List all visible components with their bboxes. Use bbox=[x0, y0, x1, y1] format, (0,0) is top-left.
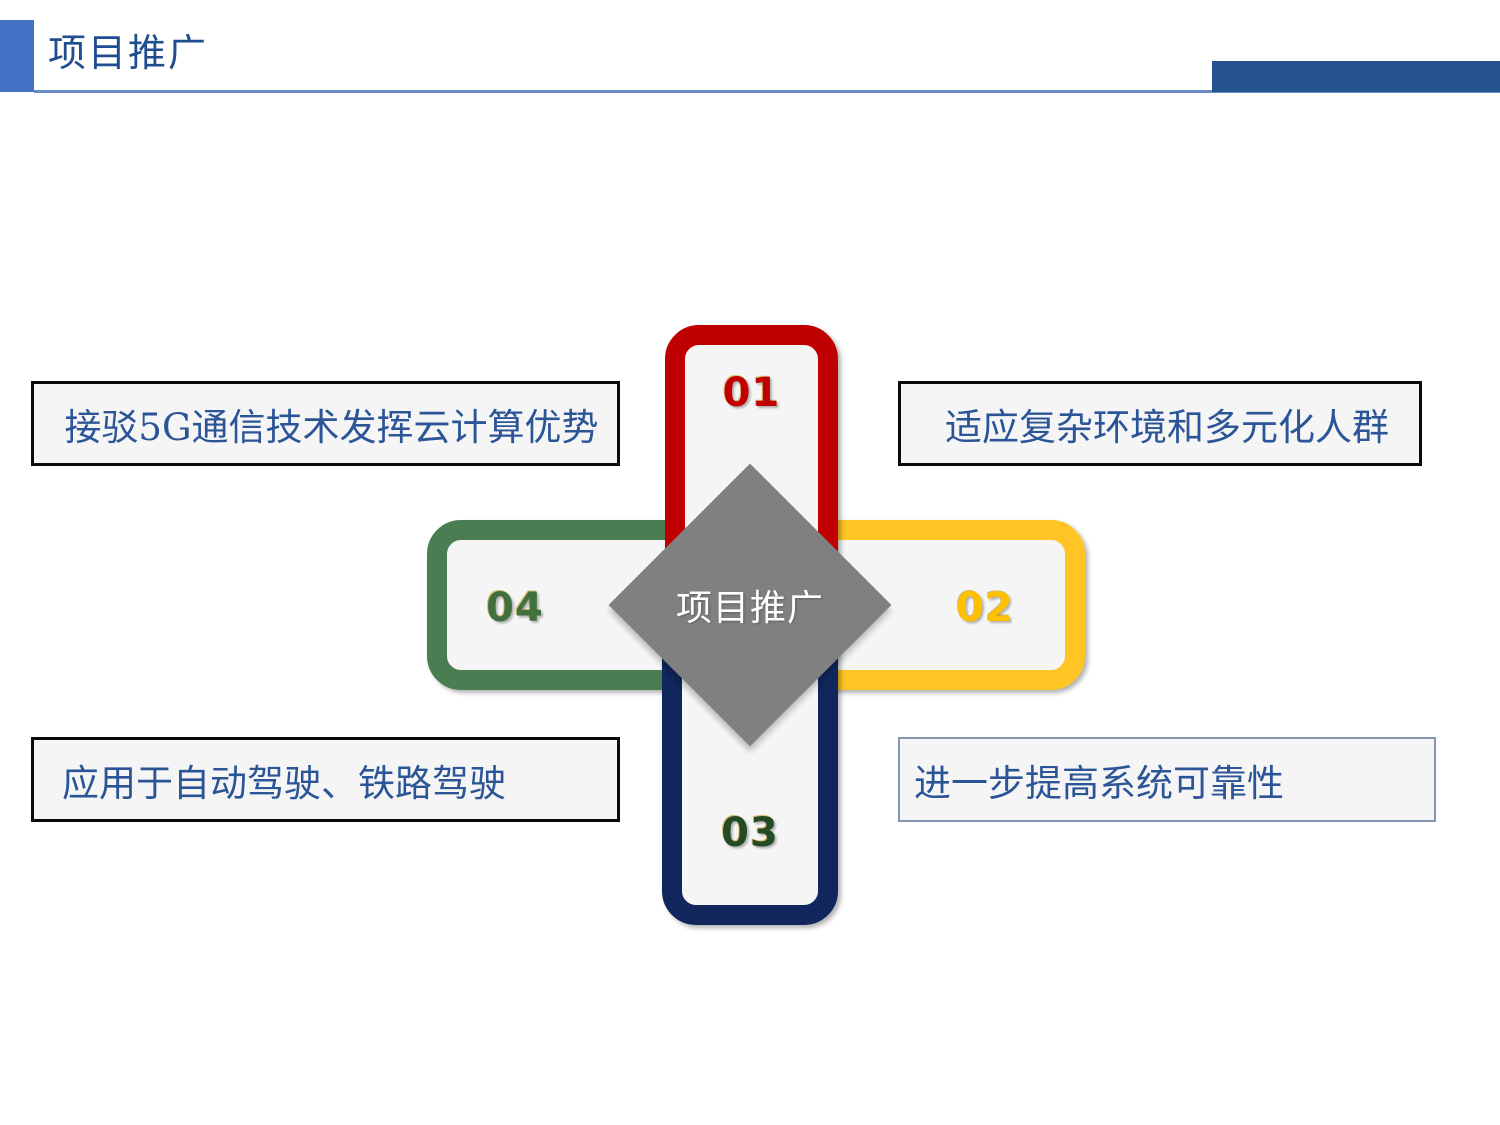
slide-canvas: 项目推广 01 02 03 04 项目推广 接驳5G通信技术发挥云计算优势 适应… bbox=[0, 0, 1500, 1125]
diamond-label: 项目推广 bbox=[612, 467, 888, 743]
node-number-01: 01 bbox=[665, 370, 838, 416]
caption-top-left: 接驳5G通信技术发挥云计算优势 bbox=[31, 381, 620, 466]
header-decorative-block bbox=[1212, 61, 1500, 92]
caption-top-right: 适应复杂环境和多元化人群 bbox=[898, 381, 1422, 466]
page-title: 项目推广 bbox=[48, 22, 208, 84]
node-number-03: 03 bbox=[662, 810, 838, 856]
header-accent-bar bbox=[0, 20, 34, 92]
node-number-02: 02 bbox=[905, 585, 1065, 631]
caption-bottom-left: 应用于自动驾驶、铁路驾驶 bbox=[31, 737, 620, 822]
center-diamond[interactable]: 项目推广 bbox=[612, 467, 888, 743]
caption-bottom-right: 进一步提高系统可靠性 bbox=[898, 737, 1436, 822]
node-number-04: 04 bbox=[435, 585, 595, 631]
